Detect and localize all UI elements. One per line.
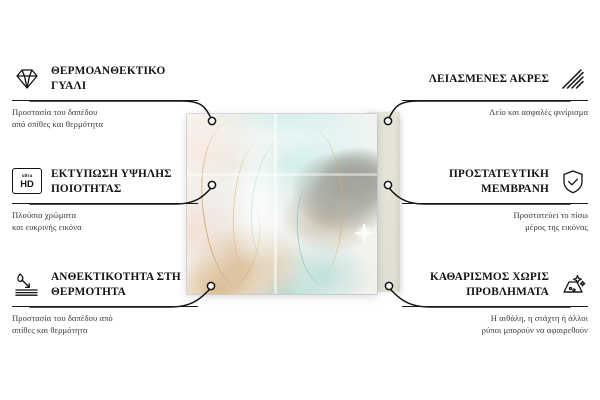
feature-description: Προστασία του δαπέδου από σπίθες και θερ… <box>12 106 198 131</box>
feature-title: ΘΕΡΜΟΑΝΘΕΚΤΙΚΟ ΓΥΑΛΙ <box>51 64 198 94</box>
feature-title: ΛΕΙΑΣΜΕΝΕΣ ΑΚΡΕΣ <box>429 72 549 87</box>
easy-clean-icon <box>558 271 588 299</box>
feature-description-line: από σπίθες και θερμότητα <box>12 118 198 130</box>
polished-edges-icon <box>558 65 588 93</box>
feature-description-line: Προστασία του δαπέδου <box>12 106 198 118</box>
feature-description-line: Λείο και ασφαλές φινίρισμα <box>402 106 588 118</box>
feature-description: Λείο και ασφαλές φινίρισμα <box>402 106 588 118</box>
feature-title: ΕΚΤΥΠΩΣΗ ΥΨΗΛΗΣ ΠΟΙΟΤΗΤΑΣ <box>51 167 198 197</box>
divider <box>402 306 588 307</box>
divider <box>12 100 198 101</box>
feature-description-line: Η αιθάλη, η στάχτη ή άλλοι <box>402 312 588 324</box>
divider <box>12 306 198 307</box>
feature-description: Προστασία του δαπέδου από σπίθες και θερ… <box>12 312 198 337</box>
feature-polished-edges: ΛΕΙΑΣΜΕΝΕΣ ΑΚΡΕΣ Λείο και ασφαλές φινίρι… <box>402 62 588 118</box>
shield-check-icon <box>558 168 588 196</box>
feature-high-quality-print: ultra HD ΕΚΤΥΠΩΣΗ ΥΨΗΛΗΣ ΠΟΙΟΤΗΤΑΣ Πλούσ… <box>12 165 198 234</box>
feature-protective-membrane: ΠΡΟΣΤΑΤΕΥΤΙΚΗ ΜΕΜΒΡΑΝΗ Προστατεύει το πί… <box>402 165 588 234</box>
feature-title: ΚΑΘΑΡΙΣΜΟΣ ΧΩΡΙΣ ΠΡΟΒΛΗΜΑΤΑ <box>402 270 549 300</box>
feature-description: Πλούσια χρώματα και ευκρινής εικόνα <box>12 209 198 234</box>
divider <box>402 203 588 204</box>
feature-description-line: Προστασία του δαπέδου από <box>12 312 198 324</box>
feature-description-line: Προστατεύει το πίσω <box>402 209 588 221</box>
ultra-hd-icon: ultra HD <box>12 168 42 196</box>
feature-easy-cleaning: ΚΑΘΑΡΙΣΜΟΣ ΧΩΡΙΣ ΠΡΟΒΛΗΜΑΤΑ Η αιθάλη, η … <box>402 268 588 337</box>
divider <box>402 100 588 101</box>
feature-heat-resistant-glass: ΘΕΡΜΟΑΝΘΕΚΤΙΚΟ ΓΥΑΛΙ Προστασία του δαπέδ… <box>12 62 198 131</box>
diamond-icon <box>12 65 42 93</box>
feature-description-line: μέρος της εικόνας <box>402 221 588 233</box>
feature-description-line: και ευκρινής εικόνα <box>12 221 198 233</box>
divider <box>12 203 198 204</box>
feature-description: Προστατεύει το πίσω μέρος της εικόνας <box>402 209 588 234</box>
feature-description-line: ρύποι μπορούν να αφαιρεθούν <box>402 324 588 336</box>
ultra-hd-icon-bottom-text: HD <box>20 179 34 188</box>
feature-description: Η αιθάλη, η στάχτη ή άλλοι ρύποι μπορούν… <box>402 312 588 337</box>
glass-product-panel <box>187 114 377 294</box>
highlight-sparkle-icon <box>355 224 373 242</box>
feature-description-line: Πλούσια χρώματα <box>12 209 198 221</box>
feature-title: ΠΡΟΣΤΑΤΕΥΤΙΚΗ ΜΕΜΒΡΑΝΗ <box>402 167 549 197</box>
feature-title: ΑΝΘΕΚΤΙΚΟΤΗΤΑ ΣΤΗ ΘΕΡΜΟΤΗΤΑ <box>51 270 198 300</box>
infographic-stage: ΘΕΡΜΟΑΝΘΕΚΤΙΚΟ ΓΥΑΛΙ Προστασία του δαπέδ… <box>0 0 600 400</box>
heat-resistance-icon <box>12 271 42 299</box>
feature-description-line: σπίθες και θερμότητα <box>12 324 198 336</box>
feature-heat-durability: ΑΝΘΕΚΤΙΚΟΤΗΤΑ ΣΤΗ ΘΕΡΜΟΤΗΤΑ Προστασία το… <box>12 268 198 337</box>
glass-gloss-overlay <box>187 114 377 294</box>
